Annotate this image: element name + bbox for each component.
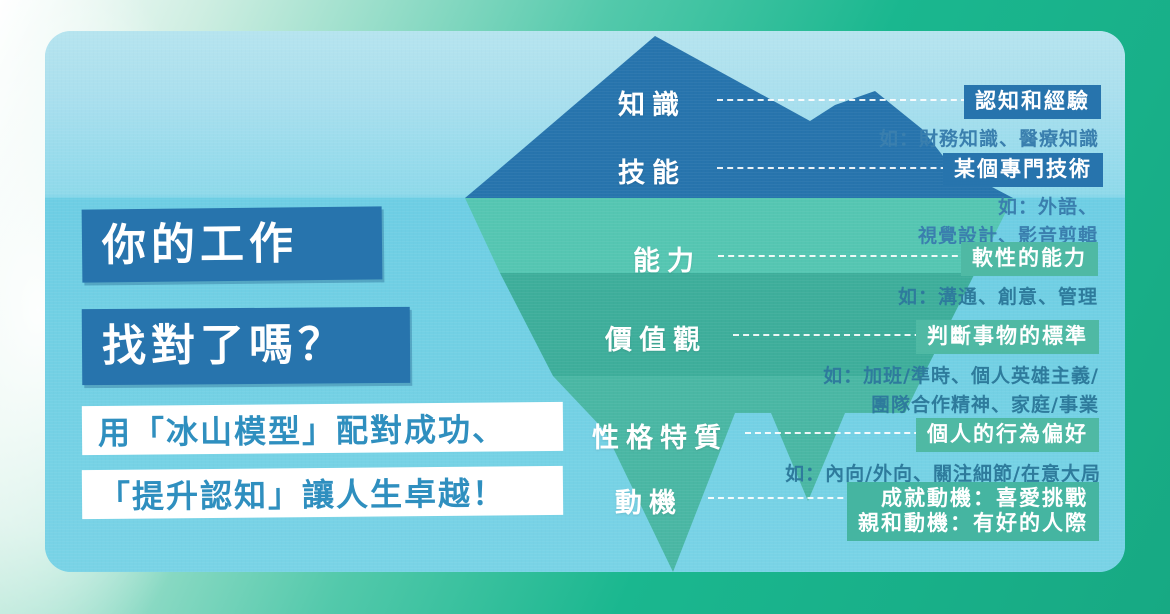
headline-line-2: 找對了嗎？ — [82, 323, 347, 369]
tier-label-skill: 技能 — [618, 151, 686, 190]
leader-knowledge — [717, 99, 967, 101]
subtitle-line-2: 「提升認知」讓人生卓越！ — [82, 466, 563, 519]
subtitle-line-1: 用「冰山模型」配對成功、 — [82, 402, 563, 455]
example-values-line-2: 團隊合作精神、家庭/事業 — [871, 390, 1099, 417]
headline-line-1: 你的工作 — [82, 222, 298, 268]
headline-box-1: 你的工作 — [82, 206, 383, 282]
iceberg-above-water — [465, 36, 1013, 198]
leader-ability — [718, 255, 968, 257]
chip-skill: 某個專門技術 — [943, 153, 1103, 187]
tier-label-ability: 能力 — [633, 239, 701, 278]
headline-box-2: 找對了嗎？ — [82, 307, 411, 385]
tier-label-personality: 性格特質 — [592, 416, 728, 455]
leader-skill — [717, 167, 967, 169]
chip-motivation-line-2: 親和動機：有好的人際 — [858, 511, 1088, 536]
chip-knowledge: 認知和經驗 — [964, 85, 1101, 119]
tier-label-motivation: 動機 — [615, 481, 683, 520]
poster-card: 你的工作 找對了嗎？ 用「冰山模型」配對成功、 「提升認知」讓人生卓越！ 知識 … — [45, 31, 1125, 572]
tier-label-knowledge: 知識 — [618, 83, 686, 122]
example-skill-line-1: 如：外語、 — [998, 192, 1098, 219]
chip-motivation: 成就動機：喜愛挑戰 親和動機：有好的人際 — [847, 482, 1099, 541]
tier-label-values: 價值觀 — [605, 318, 707, 357]
chip-values: 判斷事物的標準 — [916, 320, 1099, 354]
example-knowledge: 如：財務知識、醫療知識 — [879, 124, 1099, 151]
chip-personality: 個人的行為偏好 — [916, 418, 1099, 452]
chip-motivation-line-1: 成就動機：喜愛挑戰 — [858, 486, 1088, 511]
example-values-line-1: 如：加班/準時、個人英雄主義/ — [823, 361, 1099, 388]
chip-ability: 軟性的能力 — [961, 242, 1098, 276]
example-ability: 如：溝通、創意、管理 — [898, 282, 1098, 309]
poster-canvas: 你的工作 找對了嗎？ 用「冰山模型」配對成功、 「提升認知」讓人生卓越！ 知識 … — [0, 0, 1170, 614]
